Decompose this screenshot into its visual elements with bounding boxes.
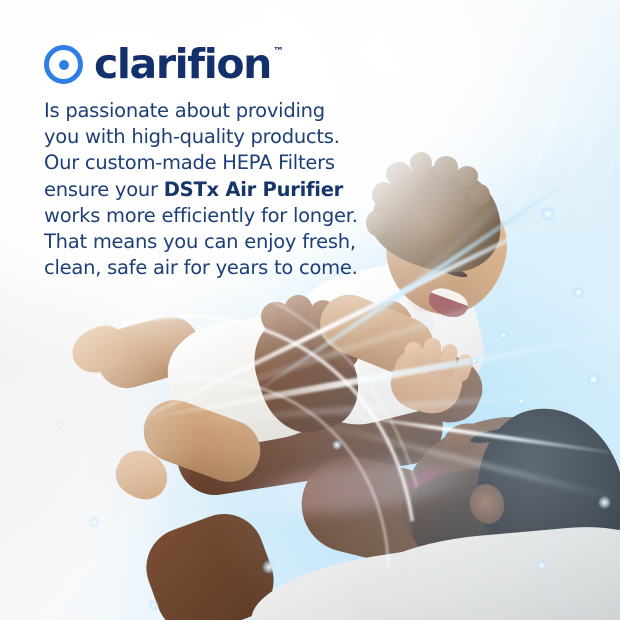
- marketing-paragraph: Is passionate about providing you with h…: [44, 98, 364, 282]
- logo-inner-dot: [59, 60, 69, 70]
- brand-logo: clarifion™: [44, 44, 364, 85]
- trademark-symbol: ™: [273, 46, 284, 57]
- circle-dot-icon: [44, 45, 83, 84]
- copy-block: clarifion™ Is passionate about providing…: [44, 44, 364, 282]
- copy-part-two: works more efficiently for longer. That …: [44, 204, 358, 279]
- promo-banner: clarifion™ Is passionate about providing…: [0, 0, 620, 620]
- brand-wordmark: clarifion™: [94, 44, 284, 85]
- product-name-highlight: DSTx Air Purifier: [164, 178, 343, 201]
- brand-name: clarifion: [94, 40, 271, 88]
